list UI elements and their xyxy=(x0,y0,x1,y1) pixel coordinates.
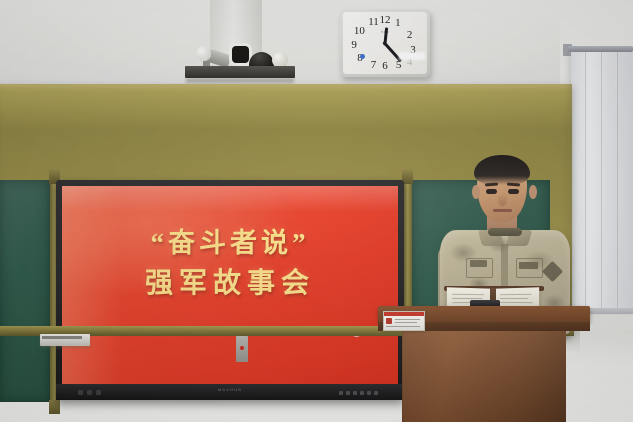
board-clip-bottom-left xyxy=(49,400,60,414)
eye-right xyxy=(508,189,519,194)
clock-number-10: 10 xyxy=(354,26,365,37)
slide-title-line-1: “奋斗者说” xyxy=(62,224,398,262)
display-bottom-bezel: MAXHUB xyxy=(56,384,404,400)
slide-title-line-2: 强军故事会 xyxy=(62,264,398,304)
clock-face: 12 1 2 3 4 5 6 7 8 9 10 11 hito xyxy=(343,12,427,74)
unit-name-placard xyxy=(383,311,425,331)
collar-band xyxy=(488,228,522,236)
clock-number-5: 5 xyxy=(396,60,402,71)
mount-shelf xyxy=(185,66,295,78)
ear-right xyxy=(529,185,537,199)
clock-number-9: 9 xyxy=(351,40,357,51)
ear-left xyxy=(472,185,480,199)
clock-number-11: 11 xyxy=(368,17,379,28)
switch-indicator-dot xyxy=(240,346,244,350)
podium-column xyxy=(402,331,566,422)
nose xyxy=(498,194,507,206)
eye-left xyxy=(486,189,497,194)
wall-switch-plate[interactable] xyxy=(236,336,248,362)
upper-wall xyxy=(0,0,633,96)
clock-number-7: 7 xyxy=(371,60,377,71)
classroom-photo-scene: 12 1 2 3 4 5 6 7 8 9 10 11 hito xyxy=(0,0,633,422)
display-button-group[interactable] xyxy=(339,391,378,395)
mouth xyxy=(493,209,512,212)
ptz-camera-icon xyxy=(196,46,211,61)
rank-tab-patch xyxy=(470,260,487,267)
screen-glare-top xyxy=(62,186,398,212)
mount-shelf-shadow xyxy=(186,78,294,83)
slide-title-block: “奋斗者说” 强军故事会 xyxy=(62,224,398,304)
clock-number-1: 1 xyxy=(395,18,401,29)
display-screen[interactable]: “奋斗者说” 强军故事会 xyxy=(62,186,398,384)
hair xyxy=(474,155,530,185)
chalk-storage-box xyxy=(40,334,90,346)
clock-number-2: 2 xyxy=(407,30,413,41)
clock-logo-dot xyxy=(360,54,365,59)
left-chalk-panel xyxy=(0,180,50,402)
placard-emblem-icon xyxy=(386,318,392,324)
wall-clock: 12 1 2 3 4 5 6 7 8 9 10 11 hito xyxy=(340,9,430,77)
display-brand-label: MAXHUB xyxy=(218,387,242,392)
display-port-group xyxy=(78,390,101,395)
clock-glare xyxy=(399,52,425,60)
curtain-fabric xyxy=(571,52,633,312)
placard-red-header xyxy=(384,312,424,316)
podium-wood-grain xyxy=(402,331,566,422)
clock-number-12: 12 xyxy=(380,15,391,26)
name-tape-patch xyxy=(519,262,538,269)
clock-number-6: 6 xyxy=(382,61,388,72)
interactive-flat-panel-display[interactable]: “奋斗者说” 强军故事会 MAXHUB xyxy=(56,180,404,400)
lens-module-icon xyxy=(232,46,249,63)
